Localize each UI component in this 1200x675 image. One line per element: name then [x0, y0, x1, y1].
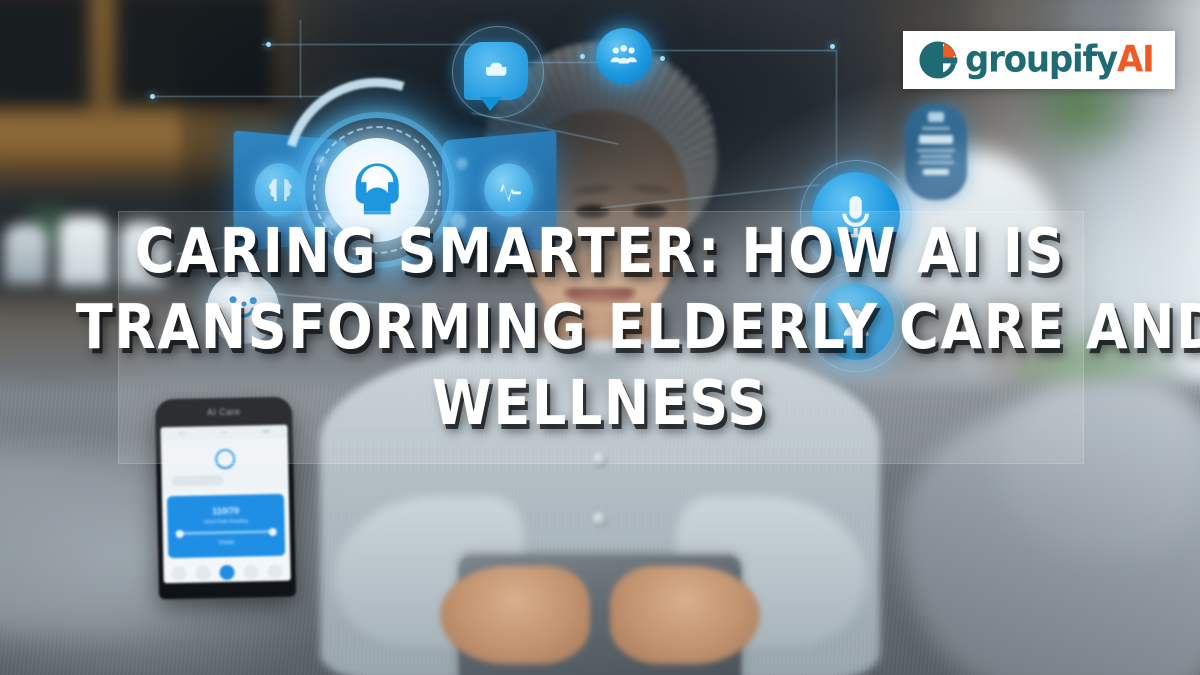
- hud-connector-line: [836, 50, 837, 168]
- people-group-icon: [608, 40, 639, 71]
- phone-reading-card: 110/70 Heart Rate Reading Details: [167, 494, 285, 558]
- groupify-circle-mark-icon: [917, 39, 959, 81]
- card-line: [918, 161, 954, 164]
- chat-bubble-icon: [477, 54, 515, 89]
- hud-connector-line: [262, 44, 472, 45]
- menu-icon[interactable]: [268, 564, 283, 579]
- chart-icon[interactable]: [195, 565, 210, 580]
- hud-dot: [580, 54, 585, 59]
- phone-dock: [163, 560, 290, 584]
- blurred-stat-card: [905, 104, 967, 200]
- card-line: [917, 149, 955, 152]
- headline-line-3: WELLNESS: [76, 359, 1124, 449]
- hero-banner: AI Care ○○ ○○ •••• 110/70 Heart Rate Rea…: [0, 0, 1200, 675]
- brand-word-primary: groupify: [965, 39, 1117, 81]
- chat-bubble-node: [464, 42, 528, 100]
- hud-dot: [150, 94, 155, 99]
- hud-connector-line: [300, 20, 301, 98]
- brand-word-accent: AI: [1117, 39, 1154, 81]
- hud-dot: [660, 56, 665, 61]
- brand-wordmark: groupifyAI: [965, 42, 1154, 78]
- card-line: [922, 127, 951, 130]
- card-chip: [928, 112, 944, 122]
- phone-reading-footer: Details: [219, 540, 234, 546]
- pulse-icon[interactable]: [219, 565, 234, 580]
- home-icon[interactable]: [171, 566, 186, 581]
- family-group-node: [596, 28, 652, 84]
- card-line: [920, 155, 952, 158]
- hud-dot: [830, 44, 835, 49]
- phone-reading-label: Heart Rate Reading: [204, 519, 248, 526]
- hud-connector-line: [646, 50, 836, 51]
- phone-range-slider[interactable]: [178, 530, 274, 535]
- card-footer: [923, 169, 949, 175]
- brand-logo[interactable]: groupifyAI: [903, 31, 1175, 89]
- page-title: CARING SMARTER: HOW AI IS TRANSFORMING E…: [0, 214, 1200, 442]
- phone-reading-value: 110/70: [212, 506, 239, 517]
- phone-placeholder-pill: [172, 475, 224, 486]
- hud-dot: [266, 42, 271, 47]
- card-value: [919, 135, 954, 144]
- bell-icon[interactable]: [244, 564, 259, 579]
